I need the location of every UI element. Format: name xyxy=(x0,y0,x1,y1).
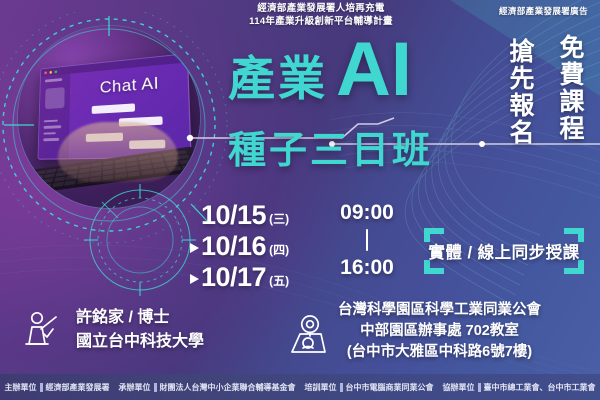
typing-hands xyxy=(58,122,178,182)
location-line-1: 台灣科學園區科學工業同業公會 xyxy=(338,300,541,321)
date-marker-icon xyxy=(190,274,199,284)
close-dot-icon xyxy=(44,71,47,74)
location-text: 台灣科學園區科學工業同業公會 中部園區辦事處 702教室 (台中市大雅區中科路6… xyxy=(338,300,541,363)
organizer-name: 財團法人台灣中小企業聯合輔導基金會 xyxy=(160,382,296,393)
separator-icon xyxy=(478,383,481,392)
time-start: 09:00 xyxy=(328,202,406,223)
organizer-role: 培訓單位 xyxy=(305,382,337,393)
slogan-register-early: 搶先報名 xyxy=(505,38,535,146)
title-chinese: 產業 xyxy=(228,55,328,102)
presenter-icon xyxy=(22,309,64,351)
time-divider xyxy=(366,229,369,251)
date-weekday: (五) xyxy=(269,272,289,289)
minimize-dot-icon xyxy=(49,70,52,73)
speaker-block: 許銘家 / 博士 國立台中科技大學 xyxy=(22,306,204,354)
organizer-name: 台中市電腦商業同業公會 xyxy=(346,382,434,393)
date-row: 10/17 (五) xyxy=(190,260,289,291)
location-line-2: 中部園區辦事處 702教室 xyxy=(338,321,541,342)
laptop-photo-background: Chat AI xyxy=(18,26,200,208)
location-line-3: (台中市大雅區中科路6號7樓) xyxy=(338,342,541,363)
header-line-1: 經濟部產業發展署人培再充電 xyxy=(196,2,446,15)
date-row: 10/15 (三) xyxy=(190,198,289,229)
date-value: 10/15 xyxy=(201,202,266,229)
organizer-name: 臺中市總工業會、台中市工業會 xyxy=(484,382,596,393)
speaker-affiliation: 國立台中科技大學 xyxy=(76,330,204,354)
organizer-role: 承辦單位 xyxy=(119,382,151,393)
course-mode-badge: 實體 / 線上同步授課 xyxy=(424,228,584,274)
organizer-item: 協辦單位 臺中市總工業會、台中市工業會 xyxy=(443,382,596,393)
date-weekday: (四) xyxy=(269,241,289,258)
organizer-item: 主辦單位 經濟部產業發展署 xyxy=(5,382,110,393)
separator-icon xyxy=(40,383,43,392)
organizer-bar: 主辦單位 經濟部產業發展署 承辦單位 財團法人台灣中小企業聯合輔導基金會 培訓單… xyxy=(0,374,600,400)
title-ai: AI xyxy=(336,40,412,99)
date-weekday: (三) xyxy=(269,210,289,227)
laptop-photo: Chat AI xyxy=(18,26,200,208)
poster-canvas: Chat AI xyxy=(0,0,600,400)
slogan-free-course: 免費課程 xyxy=(555,34,585,142)
organizer-item: 承辦單位 財團法人台灣中小企業聯合輔導基金會 xyxy=(119,382,296,393)
organizer-item: 培訓單位 台中市電腦商業同業公會 xyxy=(305,382,434,393)
title-subtitle: 種子三日班 xyxy=(228,132,433,170)
maximize-dot-icon xyxy=(55,70,58,73)
header-subtitle: 經濟部產業發展署人培再充電 114年產業升級創新平台輔導計畫 xyxy=(196,2,446,28)
organizer-role: 協辦單位 xyxy=(443,382,475,393)
info-section: 許銘家 / 博士 國立台中科技大學 台灣科學園區科學工業同業公會 中部園區辦事處… xyxy=(0,300,600,374)
date-value: 10/17 xyxy=(201,264,266,291)
separator-icon xyxy=(154,383,157,392)
time-end: 16:00 xyxy=(328,257,406,278)
ai-head-icon xyxy=(45,87,65,109)
map-pin-icon xyxy=(288,312,328,356)
date-marker-icon xyxy=(190,243,199,253)
main-title: 產業 AI xyxy=(228,40,412,102)
advertiser-note: 經濟部產業發展署廣告 xyxy=(499,5,588,17)
date-value: 10/16 xyxy=(201,233,266,260)
separator-icon xyxy=(340,383,343,392)
speaker-text: 許銘家 / 博士 國立台中科技大學 xyxy=(76,306,204,354)
organizer-name: 經濟部產業發展署 xyxy=(46,382,110,393)
course-mode-label: 實體 / 線上同步授課 xyxy=(424,228,584,274)
time-range: 09:00 16:00 xyxy=(328,202,406,278)
organizer-role: 主辦單位 xyxy=(5,382,37,393)
date-list: 10/15 (三) 10/16 (四) 10/17 (五) xyxy=(190,198,289,291)
location-block: 台灣科學園區科學工業同業公會 中部園區辦事處 702教室 (台中市大雅區中科路6… xyxy=(288,300,541,363)
date-row: 10/16 (四) xyxy=(190,229,289,260)
speaker-name: 許銘家 / 博士 xyxy=(76,306,204,330)
chat-ai-screen-title: Chat AI xyxy=(81,71,182,99)
